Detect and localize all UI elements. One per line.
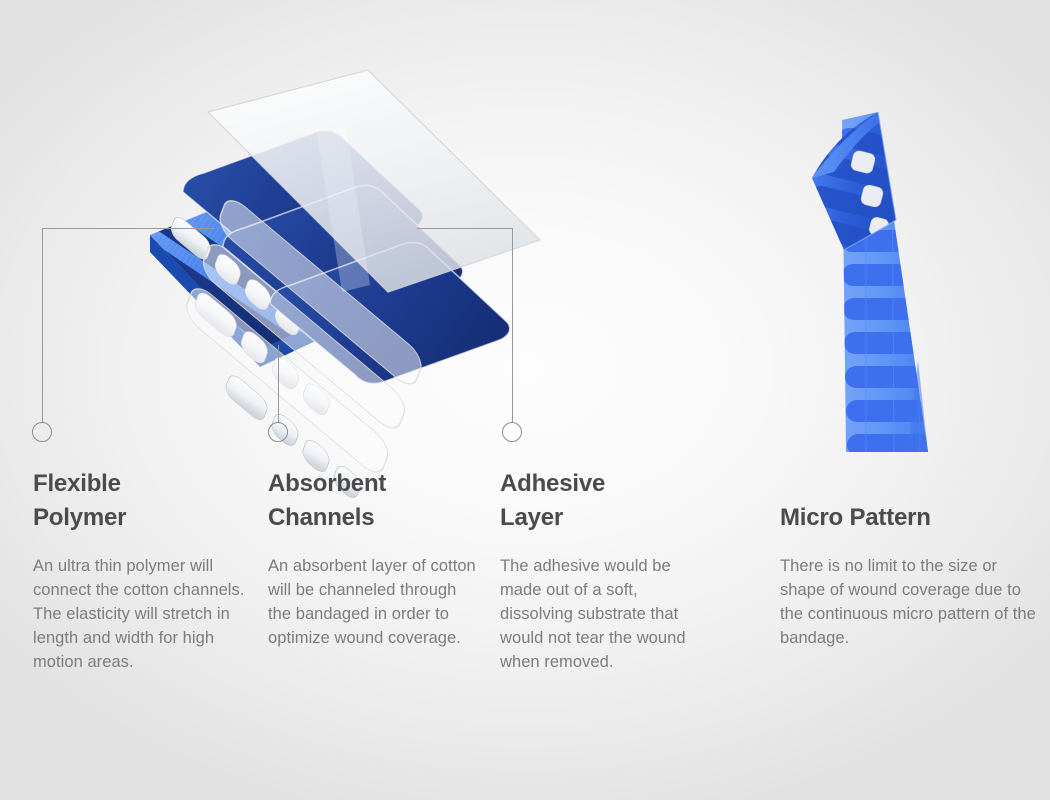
- heading-flexible-polymer: Flexible Polymer: [33, 467, 248, 535]
- pattern-row: [846, 400, 946, 422]
- body-adhesive-layer: The adhesive would be made out of a soft…: [500, 554, 715, 674]
- heading-micro-pattern: Micro Pattern: [780, 501, 1038, 535]
- pattern-row: [843, 298, 937, 320]
- leader-line-absorbent-vertical: [278, 345, 279, 422]
- callout-marker-adhesive[interactable]: [502, 422, 522, 442]
- bandage-exploded-illustration: [120, 70, 560, 400]
- body-absorbent-channels: An absorbent layer of cotton will be cha…: [268, 554, 478, 650]
- body-micro-pattern: There is no limit to the size or shape o…: [780, 554, 1038, 650]
- leader-line-flexible-horizontal: [42, 228, 214, 229]
- leader-line-flexible-vertical: [42, 228, 43, 422]
- adhesive-layer: [183, 70, 540, 479]
- column-adhesive-layer: Adhesive Layer The adhesive would be mad…: [500, 467, 715, 674]
- callout-marker-absorbent[interactable]: [268, 422, 288, 442]
- pattern-row: [847, 434, 949, 456]
- infographic-canvas: Flexible Polymer An ultra thin polymer w…: [0, 0, 1050, 800]
- micro-pattern-illustration: [800, 100, 990, 480]
- heading-adhesive-layer: Adhesive Layer: [500, 467, 715, 535]
- leader-line-adhesive-horizontal: [417, 228, 513, 229]
- pattern-row: [842, 264, 934, 286]
- heading-absorbent-channels: Absorbent Channels: [268, 467, 478, 535]
- pattern-row: [844, 332, 940, 354]
- column-absorbent-channels: Absorbent Channels An absorbent layer of…: [268, 467, 478, 650]
- leader-line-adhesive-vertical: [512, 228, 513, 422]
- body-flexible-polymer: An ultra thin polymer will connect the c…: [33, 554, 248, 674]
- column-flexible-polymer: Flexible Polymer An ultra thin polymer w…: [33, 467, 248, 674]
- column-micro-pattern: Micro Pattern There is no limit to the s…: [780, 501, 1038, 650]
- callout-marker-flexible[interactable]: [32, 422, 52, 442]
